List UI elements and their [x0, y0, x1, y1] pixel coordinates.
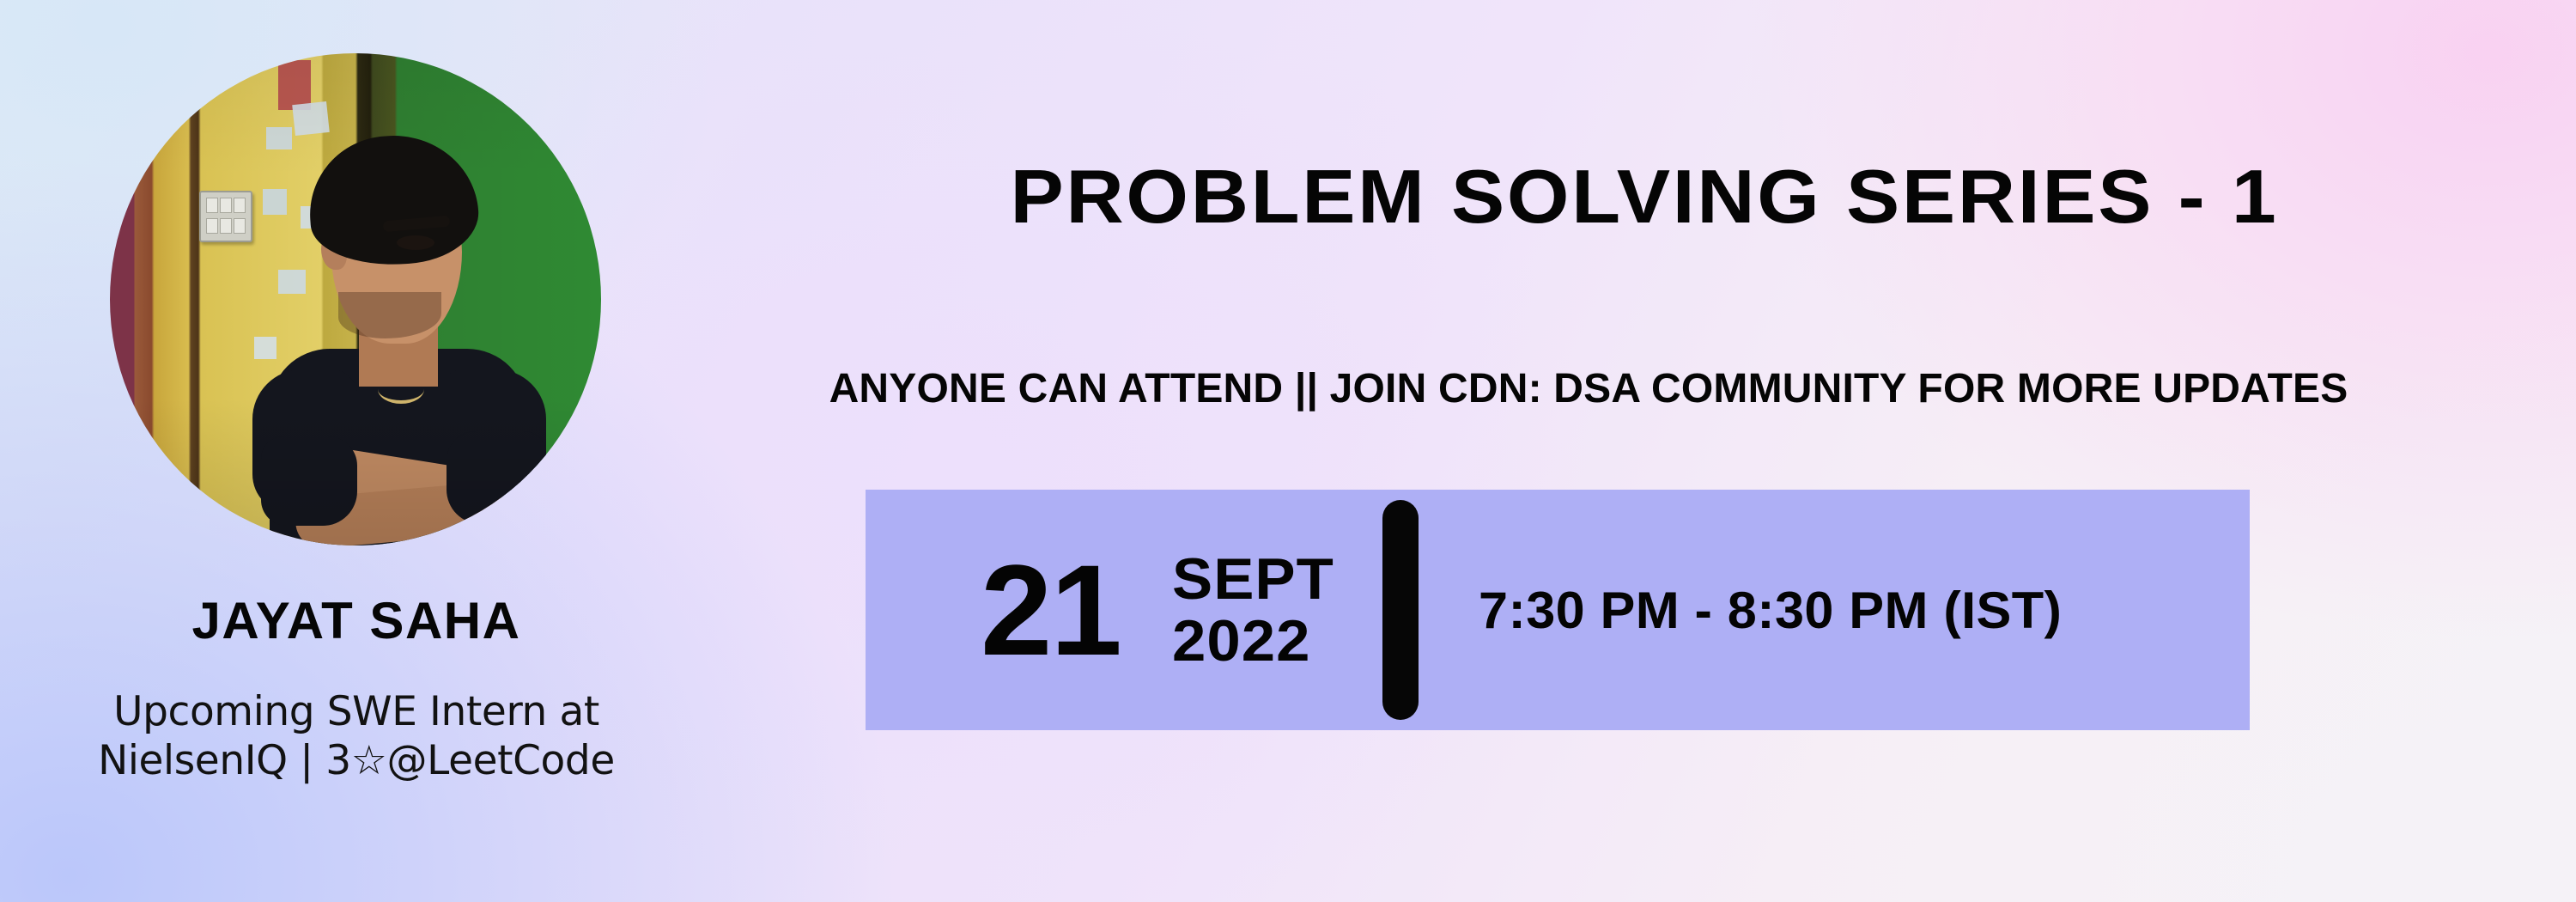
event-year: 2022: [1172, 610, 1334, 672]
forearm-upper: [284, 441, 505, 527]
wall-paper-scrap: [263, 189, 287, 215]
wall-switchboard-icon: [199, 191, 252, 242]
speaker-photo: [110, 53, 601, 545]
event-promo-banner: JAYAT SAHA Upcoming SWE Intern at Nielse…: [0, 0, 2576, 902]
face: [331, 182, 462, 344]
speaker-column: JAYAT SAHA Upcoming SWE Intern at Nielse…: [0, 0, 713, 902]
datetime-bar: 21 SEPT 2022 7:30 PM - 8:30 PM (IST): [866, 490, 2250, 730]
event-day: 21: [981, 545, 1121, 674]
sleeve-left: [261, 436, 357, 526]
wall-paper-scrap: [254, 337, 276, 359]
speaker-bio-line-1: Upcoming SWE Intern at: [34, 687, 678, 736]
eyebrow: [383, 216, 451, 233]
event-title: PROBLEM SOLVING SERIES - 1: [657, 153, 2576, 241]
event-month: SEPT: [1172, 548, 1334, 610]
wall-poster-red: [278, 60, 311, 110]
torso: [270, 349, 527, 545]
event-time-range: 7:30 PM - 8:30 PM (IST): [1479, 581, 2062, 640]
ear: [321, 232, 347, 270]
wall-paper-scrap: [266, 127, 292, 149]
wall-paper-scrap: [292, 101, 330, 136]
wall-paper-scrap: [278, 270, 306, 294]
event-month-year: SEPT 2022: [1172, 548, 1328, 672]
door-panel: [368, 237, 426, 326]
shoulder-left: [252, 369, 357, 514]
shoulder-right: [438, 369, 546, 517]
door-panel: [368, 139, 426, 232]
neck: [359, 320, 438, 387]
avatar: [110, 53, 601, 545]
neck-chain: [378, 375, 424, 404]
speaker-name: JAYAT SAHA: [0, 591, 713, 650]
forearm-lower: [294, 480, 507, 545]
wall-paper-scrap: [301, 206, 326, 229]
vertical-divider-icon: [1382, 500, 1419, 720]
speaker-bio: Upcoming SWE Intern at NielsenIQ | 3☆@Le…: [34, 687, 678, 786]
speaker-bio-line-2: NielsenIQ | 3☆@LeetCode: [34, 736, 678, 785]
person-figure: [110, 53, 601, 545]
hair: [305, 130, 482, 270]
sleeve-right: [447, 431, 546, 524]
event-subtitle: ANYONE CAN ATTEND || JOIN CDN: DSA COMMU…: [601, 365, 2576, 412]
eye: [397, 235, 434, 250]
